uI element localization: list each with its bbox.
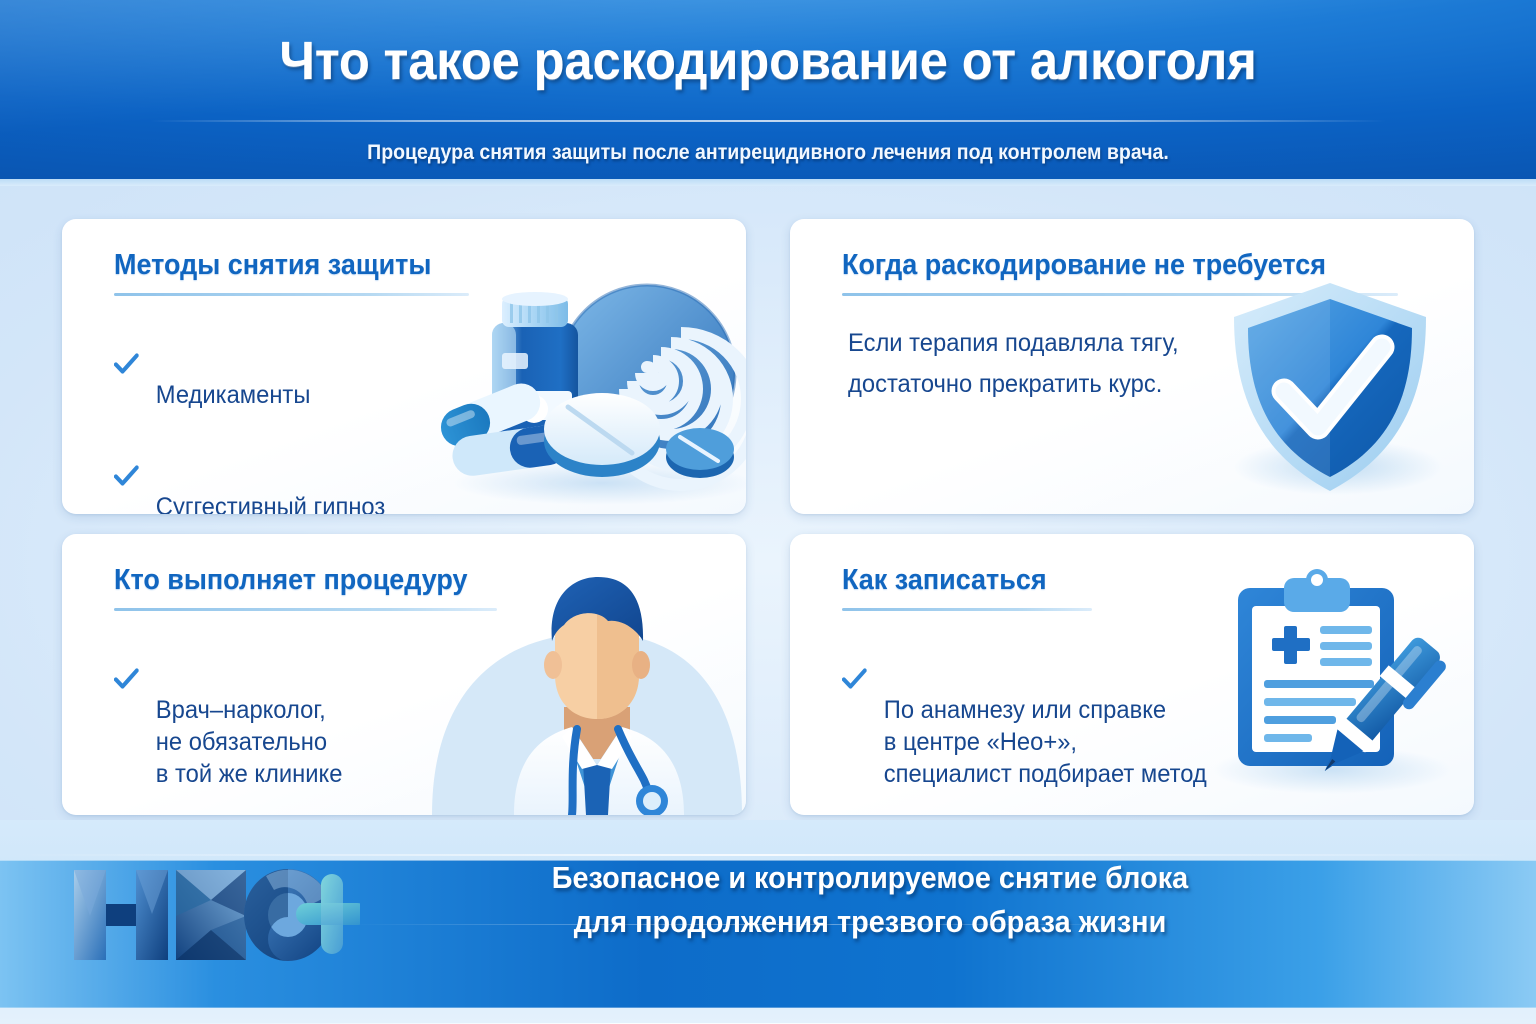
header-banner: Что такое раскодирование от алкоголя Про… [0,0,1536,186]
neo-plus-logo [60,856,360,974]
header-divider [150,120,1386,122]
card-when-not-needed-text: Если терапия подавляла тягу, достаточно … [848,323,1179,404]
card-who-performs: Кто выполняет процедуру Врач–нарколог, н… [62,534,746,815]
list-item: По анамнезу или справке в центре «Нео+»,… [842,630,1207,790]
card-how-to-book: Как записаться По анамнезу или справке в… [790,534,1474,815]
check-icon [114,634,139,656]
pills-and-spiral-illustration [432,265,746,511]
check-icon [114,319,139,341]
list-item: Медикаменты [114,315,393,411]
list-item-label: Суггестивный гипноз [156,493,385,514]
card-methods-title: Методы снятия защиты [114,249,431,282]
card-when-not-needed-title-underline [842,293,1398,296]
card-methods-bullets: Медикаменты Суггестивный гипноз Внушение… [114,315,408,514]
list-item-label: Медикаменты [156,381,311,409]
cards-grid: Методы снятия защиты Медикаменты Суггест… [62,219,1474,815]
check-icon [114,431,139,453]
card-how-to-book-title-underline [842,608,1092,611]
shield-with-check-illustration [1212,269,1448,505]
check-icon [842,634,867,656]
card-when-not-needed-title: Когда раскодирование не требуется [842,249,1326,282]
page-subtitle: Процедура снятия защиты после антирециди… [54,141,1482,165]
card-how-to-book-title: Как записаться [842,564,1047,597]
list-item-label: Врач–нарколог, не обязательно в той же к… [156,696,343,788]
card-methods: Методы снятия защиты Медикаменты Суггест… [62,219,746,514]
doctor-illustration [422,569,746,815]
card-who-performs-bullets: Врач–нарколог, не обязательно в той же к… [114,630,354,806]
clipboard-and-pen-illustration [1202,564,1458,796]
footer-tagline-line1: Безопасное и контролируемое снятие блока [377,856,1363,900]
list-item-label: По анамнезу или справке в центре «Нео+»,… [884,696,1207,788]
card-when-not-needed: Когда раскодирование не требуется Если т… [790,219,1474,514]
card-methods-title-underline [114,293,469,296]
list-item: Врач–нарколог, не обязательно в той же к… [114,630,342,790]
card-who-performs-title: Кто выполняет процедуру [114,564,468,597]
infographic-poster: Что такое раскодирование от алкоголя Про… [0,0,1536,1024]
footer-tagline-line2: для продолжения трезвого образа жизни [377,900,1363,944]
page-title: Что такое раскодирование от алкоголя [46,30,1490,92]
card-who-performs-title-underline [114,608,497,611]
card-how-to-book-bullets: По анамнезу или справке в центре «Нео+»,… [842,630,1226,806]
footer-tagline: Безопасное и контролируемое снятие блока… [377,856,1363,945]
list-item: Суггестивный гипноз [114,427,393,514]
